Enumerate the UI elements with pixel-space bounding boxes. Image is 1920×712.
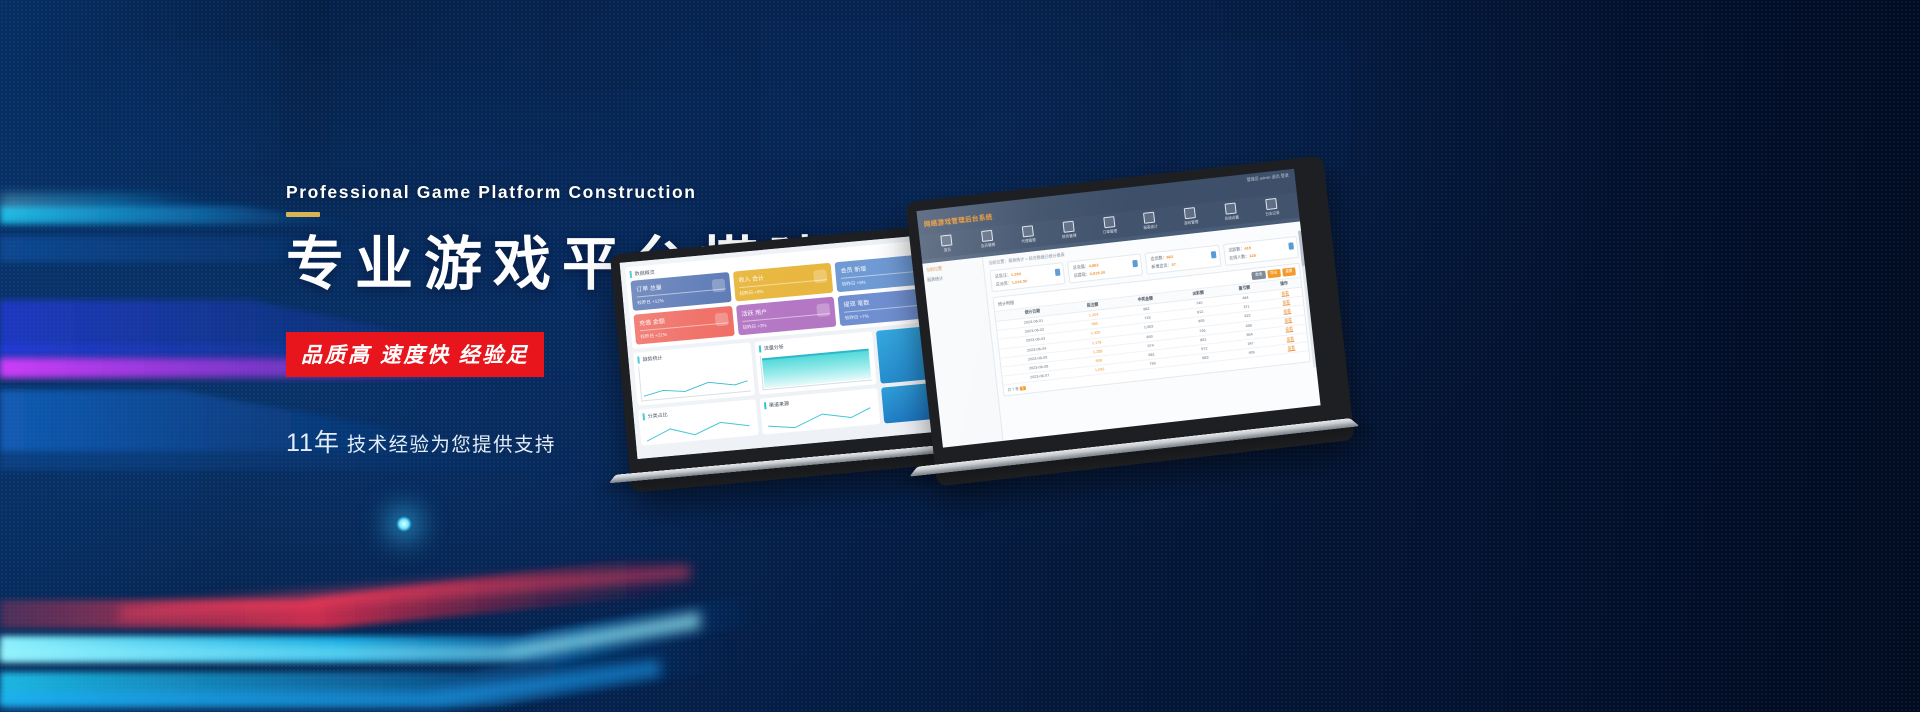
app-main: 当前位置：报表统计 > 综合数据日统计报表 总投注：1,284 总派奖：1,02… [983, 221, 1321, 447]
pager-label: 共 7 条 [1007, 387, 1019, 392]
marketing-banner: Professional Game Platform Construction … [0, 0, 1920, 712]
front-laptop-screen: 管理员 admin 退出 登录 网络游戏管理后台系统 首页 会员管理 [916, 169, 1320, 448]
kpi-card[interactable]: 总充值：4,862 总提现：3,915.20 [1067, 253, 1143, 283]
kpi-value: 415 [1244, 245, 1251, 251]
wallet-icon [813, 269, 827, 283]
kpi-key: 在线人数： [1229, 253, 1249, 260]
chart-icon [1143, 212, 1155, 224]
app-title: 网络游戏管理后台系统 [924, 214, 993, 229]
gold-rule [286, 212, 320, 217]
status-badge: 品质高 速度快 经验足 [286, 332, 544, 377]
sidebar-item-reports[interactable]: 报表统计 [927, 271, 981, 283]
log-icon [1265, 198, 1277, 210]
stat-card[interactable]: 订单 总量 较昨日 +12% [630, 272, 731, 311]
gear-icon [1225, 202, 1237, 214]
toolbar-item-settings[interactable]: 系统设置 [1210, 201, 1253, 223]
toolbar-label: 代理管理 [1008, 237, 1049, 247]
toolbar-item-finance[interactable]: 财务管理 [1047, 219, 1090, 241]
toolbar-item-members[interactable]: 会员管理 [966, 228, 1009, 250]
kpi-key: 总投注： [995, 272, 1011, 279]
stat-card[interactable]: 收入 合计 较昨日 +8% [733, 263, 834, 302]
clock-icon [817, 303, 831, 317]
kpi-value: 128 [1249, 253, 1256, 259]
link-icon [714, 312, 728, 326]
badge-label: 品质高 速度快 经验足 [301, 344, 529, 367]
admin-app: 管理员 admin 退出 登录 网络游戏管理后台系统 首页 会员管理 [916, 169, 1320, 448]
finance-icon [1062, 221, 1074, 233]
pager-page[interactable]: 1 [1020, 386, 1026, 391]
toolbar-label: 系统设置 [1211, 214, 1252, 224]
stat-card[interactable]: 活跃 用户 较昨日 +3% [736, 297, 837, 336]
toolbar-label: 会员管理 [967, 241, 1008, 251]
doc-icon [1133, 260, 1139, 268]
kpi-key: 会员数： [1150, 255, 1166, 262]
toolbar-label: 首页 [927, 246, 968, 256]
doc-icon [1288, 242, 1294, 250]
toolbar-label: 报表统计 [1130, 223, 1171, 233]
kpi-card[interactable]: 会员数：862 新增会员：37 [1145, 245, 1221, 275]
glow-dot [396, 516, 412, 532]
query-button[interactable]: 查询 [1252, 270, 1266, 279]
front-laptop: 管理员 admin 退出 登录 网络游戏管理后台系统 首页 会员管理 [905, 155, 1354, 486]
back-laptop-screen: 数据概览 订单 总量 较昨日 +12% 收入 合计 较昨日 +8% [620, 234, 959, 459]
toolbar-item-orders[interactable]: 订单管理 [1088, 214, 1131, 236]
kpi-value: 1,284 [1011, 271, 1022, 277]
order-icon [1103, 216, 1115, 228]
toolbar-item-home[interactable]: 首页 [925, 233, 968, 255]
kpi-key: 总提现： [1073, 271, 1089, 278]
kpi-card[interactable]: 活跃数：415 在线人数：128 [1223, 236, 1299, 266]
app-user-text[interactable]: 管理员 admin 退出 登录 [1246, 172, 1289, 183]
kpi-card[interactable]: 总投注：1,284 总派奖：1,026.50 [989, 262, 1065, 292]
years-value: 11年 [286, 429, 340, 457]
toolbar-label: 日志记录 [1252, 209, 1293, 219]
area-chart-axis [759, 346, 872, 391]
toolbar-item-logs[interactable]: 日志记录 [1250, 196, 1293, 218]
toolbar-item-reports[interactable]: 报表统计 [1129, 210, 1172, 232]
export-button[interactable]: 导出 [1267, 268, 1281, 277]
toolbar-item-agents[interactable]: 代理管理 [1007, 224, 1050, 246]
kpi-key: 新增会员： [1151, 262, 1171, 269]
kpi-key: 总充值： [1072, 263, 1088, 270]
kpi-value: 37 [1171, 262, 1176, 267]
kpi-key: 活跃数： [1228, 246, 1244, 253]
chart-panel-area[interactable]: 流量分析 [754, 331, 876, 394]
toolbar-label: 订单管理 [1089, 227, 1130, 237]
line-chart-axis [638, 357, 751, 402]
kpi-value: 862 [1166, 254, 1173, 260]
game-icon [1184, 207, 1196, 219]
stat-card[interactable]: 充值 金额 较昨日 +21% [633, 306, 734, 345]
user-icon [981, 230, 993, 242]
toolbar-item-games[interactable]: 游戏管理 [1169, 205, 1212, 227]
reset-button[interactable]: 重置 [1282, 267, 1296, 276]
doc-icon [1055, 268, 1061, 276]
chart-panel-line[interactable]: 趋势统计 [633, 342, 755, 405]
dashboard: 数据概览 订单 总量 较昨日 +12% 收入 合计 较昨日 +8% [620, 234, 959, 459]
toolbar-label: 财务管理 [1049, 232, 1090, 242]
home-icon [940, 234, 952, 246]
chart-panel-line-3[interactable]: 渠道来源 [759, 388, 880, 435]
kpi-value: 3,915.20 [1089, 269, 1105, 276]
user-icon [711, 278, 725, 292]
kpi-value: 4,862 [1088, 262, 1099, 268]
agent-icon [1022, 225, 1034, 237]
kpi-value: 1,026.50 [1011, 278, 1027, 285]
laptop-group: 数据概览 订单 总量 较昨日 +12% 收入 合计 较昨日 +8% [620, 178, 1520, 508]
kpi-key: 总派奖： [996, 280, 1012, 287]
doc-icon [1210, 251, 1216, 259]
chart-panel-line-2[interactable]: 分类占比 [638, 399, 759, 446]
toolbar-label: 游戏管理 [1171, 218, 1212, 228]
sub-line-text: 技术经验为您提供支持 [347, 434, 556, 456]
